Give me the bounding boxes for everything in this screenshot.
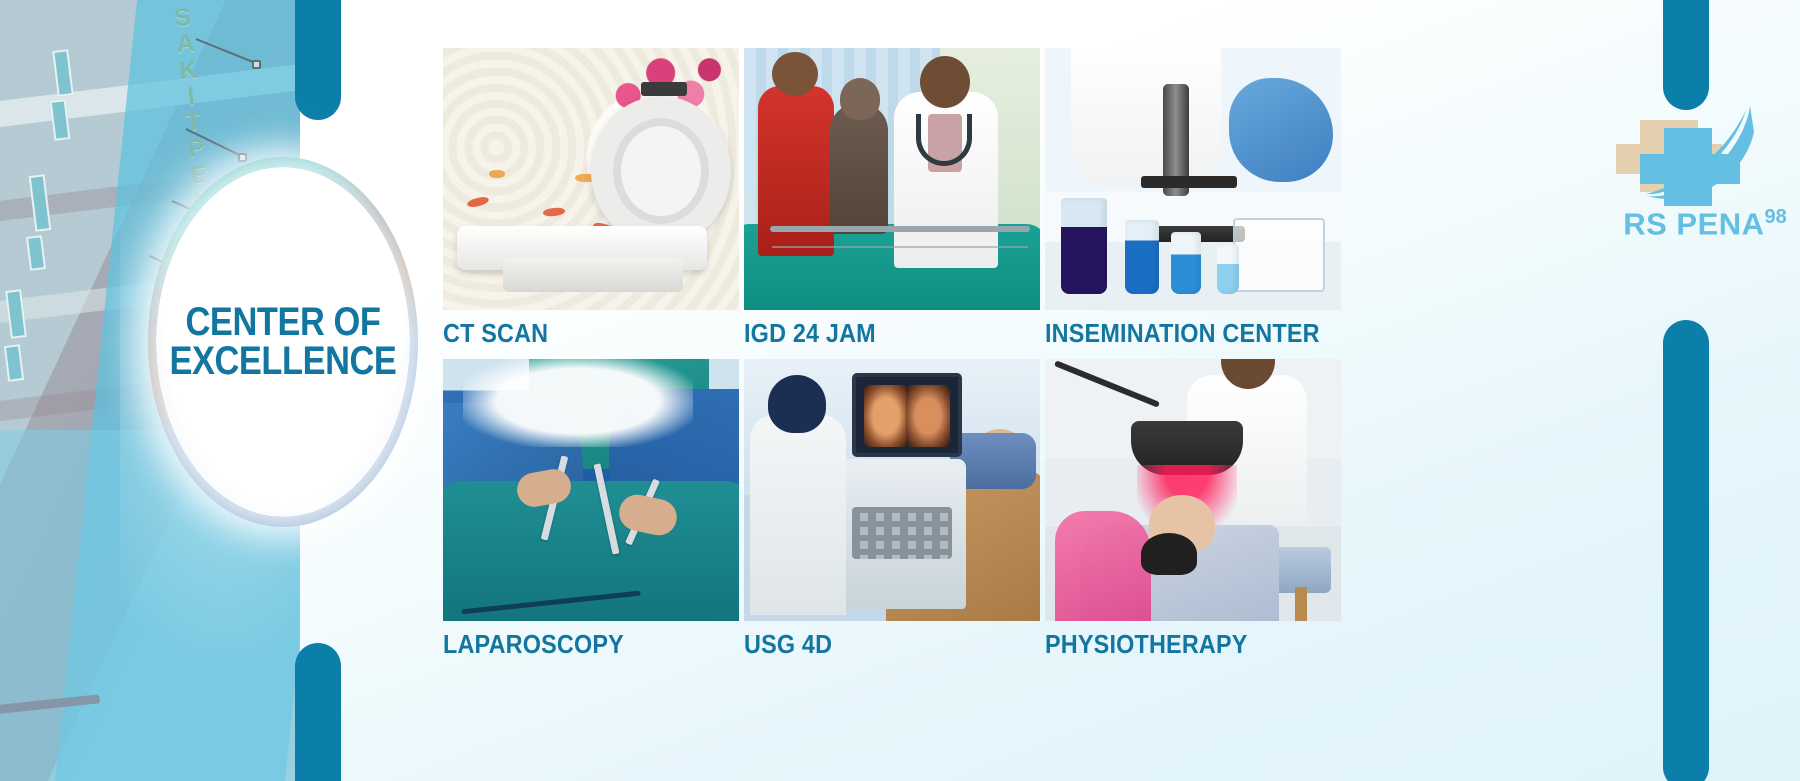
- services-row-bottom: LAPAROSCOPY USG 4D: [443, 359, 1343, 660]
- wall-lamp-icon: [252, 60, 261, 69]
- service-label: LAPAROSCOPY: [443, 629, 709, 660]
- service-label: USG 4D: [744, 629, 1010, 660]
- brand-name: RS PENA: [1623, 206, 1764, 241]
- brand-suffix: 98: [1765, 206, 1787, 228]
- service-card-igd-24-jam[interactable]: IGD 24 JAM: [744, 48, 1040, 349]
- page-title: CENTER OF EXCELLENCE: [170, 303, 397, 381]
- center-of-excellence-badge: CENTER OF EXCELLENCE: [148, 157, 418, 527]
- service-card-usg-4d[interactable]: USG 4D: [744, 359, 1040, 660]
- decor-pill-right-bottom: [1663, 320, 1709, 781]
- emergency-room-photo: [744, 48, 1040, 310]
- decor-pill-left-bottom: [295, 643, 341, 781]
- brand-logo-text: RS PENA98: [1600, 206, 1800, 242]
- service-label: PHYSIOTHERAPY: [1045, 629, 1311, 660]
- services-row-top: CT SCAN IGD 24 JAM: [443, 48, 1343, 349]
- service-label: CT SCAN: [443, 318, 709, 349]
- service-card-ct-scan[interactable]: CT SCAN: [443, 48, 739, 349]
- physiotherapy-photo: [1045, 359, 1341, 621]
- swoosh-icon: [1634, 104, 1758, 208]
- decor-pill-left-top: [295, 0, 341, 120]
- ultrasound-photo: [744, 359, 1040, 621]
- brand-logo[interactable]: RS PENA98: [1600, 108, 1800, 258]
- service-label: IGD 24 JAM: [744, 318, 1010, 349]
- service-card-physiotherapy[interactable]: PHYSIOTHERAPY: [1045, 359, 1341, 660]
- poster-canvas: S A K I T P E N A 9 8 CENTER OF EXCELLEN…: [0, 0, 1800, 781]
- laboratory-microscope-photo: [1045, 48, 1341, 310]
- ct-scanner-photo: [443, 48, 739, 310]
- medical-cross-icon: [1628, 108, 1760, 210]
- surgery-photo: [443, 359, 739, 621]
- service-label: INSEMINATION CENTER: [1045, 318, 1311, 349]
- services-grid: CT SCAN IGD 24 JAM: [443, 48, 1343, 660]
- decor-pill-right-top: [1663, 0, 1709, 110]
- service-card-laparoscopy[interactable]: LAPAROSCOPY: [443, 359, 739, 660]
- service-card-insemination-center[interactable]: INSEMINATION CENTER: [1045, 48, 1341, 349]
- badge-white-circle: CENTER OF EXCELLENCE: [156, 167, 410, 517]
